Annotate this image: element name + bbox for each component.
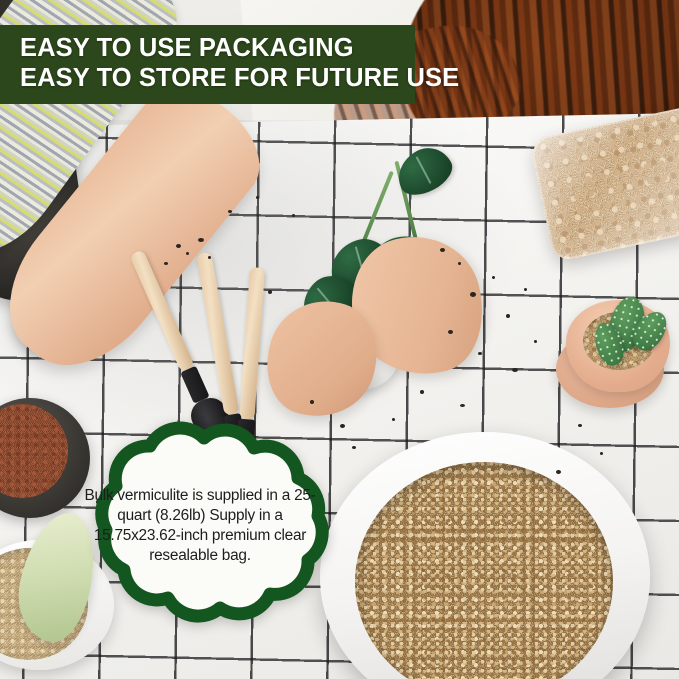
headline-line-1: EASY TO USE PACKAGING <box>20 34 401 64</box>
headline-banner: EASY TO USE PACKAGING EASY TO STORE FOR … <box>0 25 415 104</box>
infographic-canvas: EASY TO USE PACKAGING EASY TO STORE FOR … <box>0 0 679 679</box>
headline-line-2: EASY TO STORE FOR FUTURE USE <box>20 64 401 94</box>
product-spec-callout: Bulk vermiculite is supplied in a 25-qua… <box>52 420 348 662</box>
callout-text: Bulk vermiculite is supplied in a 25-qua… <box>78 486 322 566</box>
